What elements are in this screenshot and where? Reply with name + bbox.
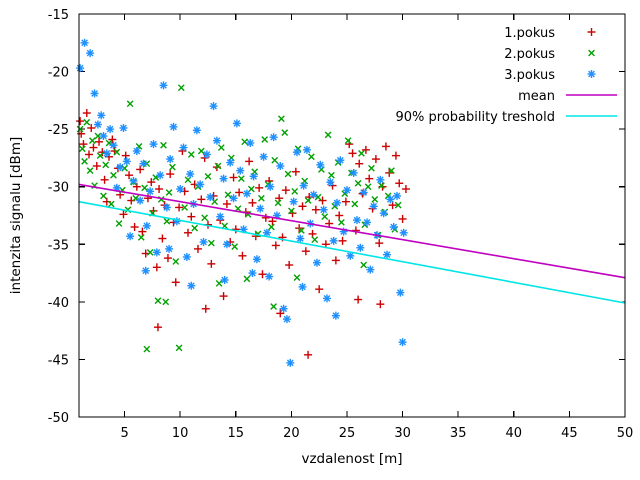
- data-point-star: [310, 191, 318, 199]
- data-point-star: [393, 192, 401, 200]
- legend-label-0: 1.pokus: [504, 26, 555, 41]
- x-tick-label: 10: [172, 426, 189, 441]
- data-point-star: [360, 188, 368, 196]
- data-point-star: [123, 157, 131, 165]
- data-point-star: [163, 203, 171, 211]
- data-point-star: [221, 276, 229, 284]
- x-tick-label: 25: [339, 426, 356, 441]
- x-tick-label: 30: [394, 426, 411, 441]
- data-point-star: [293, 148, 301, 156]
- data-point-star: [332, 312, 340, 320]
- legend-label-4: 90% probability treshold: [395, 110, 555, 125]
- data-point-star: [313, 259, 321, 267]
- data-point-star: [106, 125, 114, 133]
- data-point-star: [109, 141, 117, 149]
- data-point-star: [210, 102, 218, 110]
- data-point-star: [363, 218, 371, 226]
- data-point-star: [223, 240, 231, 248]
- data-point-star: [300, 182, 308, 190]
- x-axis-title: vzdalenost [m]: [301, 451, 402, 467]
- data-point-star: [146, 187, 154, 195]
- data-point-star: [186, 170, 194, 178]
- x-tick-label: 45: [561, 426, 578, 441]
- data-point-star: [330, 237, 338, 245]
- data-point-star: [193, 126, 201, 134]
- y-tick-label: -20: [48, 66, 69, 81]
- data-point-star: [86, 49, 94, 57]
- data-point-star: [303, 146, 311, 154]
- data-point-star: [265, 273, 273, 281]
- data-point-star: [383, 251, 391, 259]
- data-point-star: [276, 162, 284, 170]
- data-point-star: [187, 282, 195, 290]
- data-point-star: [139, 160, 147, 168]
- data-point-star: [246, 139, 254, 147]
- data-point-star: [153, 248, 161, 256]
- data-point-star: [343, 186, 351, 194]
- data-point-star: [165, 245, 173, 253]
- data-point-star: [91, 89, 99, 97]
- legend-label-2: 3.pokus: [504, 68, 555, 83]
- x-tick-label: 50: [617, 426, 634, 441]
- data-point-star: [356, 244, 364, 252]
- data-point-star: [283, 315, 291, 323]
- data-point-star: [129, 177, 137, 185]
- data-point-star: [333, 199, 341, 207]
- data-point-star: [320, 206, 328, 214]
- data-point-star: [366, 266, 374, 274]
- data-point-star: [220, 175, 228, 183]
- data-point-star: [133, 147, 141, 155]
- y-tick-label: -25: [48, 123, 69, 138]
- data-point-star: [376, 176, 384, 184]
- data-point-star: [119, 124, 127, 132]
- y-tick-label: -45: [48, 353, 69, 368]
- data-point-star: [136, 197, 144, 205]
- data-point-star: [76, 64, 84, 72]
- data-point-star: [350, 169, 358, 177]
- data-point-star: [183, 253, 191, 261]
- data-point-star: [390, 223, 398, 231]
- data-point-star: [286, 359, 294, 367]
- y-tick-label: -30: [48, 181, 69, 196]
- data-point-star: [180, 144, 188, 152]
- data-point-star: [126, 232, 134, 240]
- data-point-star: [116, 163, 124, 171]
- data-point-star: [97, 111, 105, 119]
- data-point-star: [260, 153, 268, 161]
- legend-label-1: 2.pokus: [504, 47, 555, 62]
- data-point-star: [326, 178, 334, 186]
- y-tick-label: -40: [48, 296, 69, 311]
- legend-label-3: mean: [518, 89, 555, 104]
- data-point-star: [142, 267, 150, 275]
- data-point-star: [233, 119, 241, 127]
- data-point-star: [196, 180, 204, 188]
- data-point-star: [226, 159, 234, 167]
- data-point-star: [299, 283, 307, 291]
- data-point-star: [248, 269, 256, 277]
- data-point-star: [99, 132, 107, 140]
- data-point-star: [94, 121, 102, 129]
- data-point-star: [230, 194, 238, 202]
- data-point-star: [213, 137, 221, 145]
- data-point-star: [236, 167, 244, 175]
- data-point-star: [81, 39, 89, 47]
- data-point-star: [280, 305, 288, 313]
- data-point-star: [253, 255, 261, 263]
- scatter-plot: -15-20-25-30-35-40-45-505101520253035404…: [0, 0, 640, 480]
- y-tick-label: -15: [48, 8, 69, 23]
- data-point-star: [588, 70, 596, 78]
- data-point-star: [103, 149, 111, 157]
- x-tick-label: 35: [450, 426, 467, 441]
- data-point-star: [336, 156, 344, 164]
- data-point-star: [396, 289, 404, 297]
- y-tick-label: -35: [48, 238, 69, 253]
- chart-container: -15-20-25-30-35-40-45-505101520253035404…: [0, 0, 640, 480]
- data-point-star: [296, 235, 304, 243]
- data-point-star: [150, 140, 158, 148]
- data-point-star: [170, 123, 178, 131]
- data-point-star: [243, 190, 251, 198]
- data-point-star: [399, 338, 407, 346]
- data-point-star: [353, 216, 361, 224]
- data-point-star: [250, 172, 258, 180]
- x-tick-label: 5: [120, 426, 128, 441]
- data-point-star: [200, 238, 208, 246]
- data-point-star: [380, 209, 388, 217]
- data-point-star: [270, 133, 278, 141]
- data-point-star: [290, 198, 298, 206]
- data-point-star: [176, 185, 184, 193]
- data-point-star: [400, 229, 408, 237]
- y-tick-label: -50: [48, 411, 69, 426]
- data-point-star: [316, 161, 324, 169]
- data-point-star: [323, 294, 331, 302]
- data-point-star: [256, 205, 264, 213]
- data-point-star: [160, 81, 168, 89]
- data-point-star: [216, 213, 224, 221]
- data-point-star: [156, 171, 164, 179]
- x-tick-label: 20: [283, 426, 300, 441]
- x-tick-label: 40: [506, 426, 523, 441]
- data-point-star: [166, 155, 174, 163]
- data-point-star: [173, 217, 181, 225]
- x-tick-label: 15: [228, 426, 245, 441]
- data-point-star: [203, 150, 211, 158]
- data-point-star: [370, 202, 378, 210]
- data-point-star: [266, 183, 274, 191]
- y-axis-title: intenzita signalu [dBm]: [8, 137, 24, 294]
- data-point-star: [143, 222, 151, 230]
- data-point-star: [206, 193, 214, 201]
